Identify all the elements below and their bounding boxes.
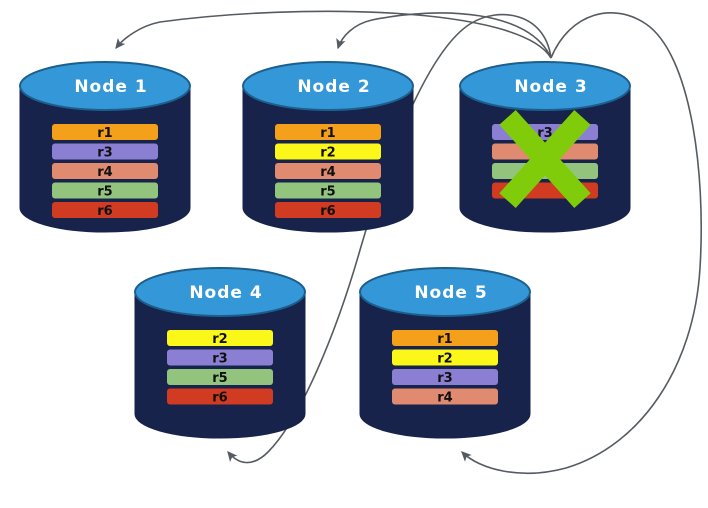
row-label: r1	[97, 126, 112, 141]
row-label: r5	[212, 371, 227, 386]
row-label: r6	[212, 390, 227, 405]
data-row[interactable]: r1	[275, 124, 381, 141]
row-label: r2	[437, 351, 452, 366]
node-title: Node 3	[514, 77, 587, 97]
node-title: Node 1	[74, 77, 147, 97]
data-row[interactable]: r4	[52, 163, 158, 180]
data-row[interactable]: r5	[167, 369, 273, 386]
edge-node3-to-node1	[116, 11, 551, 58]
data-row[interactable]: r2	[392, 350, 498, 367]
data-row[interactable]: r2	[275, 144, 381, 161]
data-row[interactable]: r6	[167, 389, 273, 406]
row-label: r1	[437, 332, 452, 347]
row-label: r1	[320, 126, 335, 141]
data-row[interactable]: r5	[52, 183, 158, 200]
data-row[interactable]: r6	[275, 202, 381, 219]
row-label: r4	[437, 390, 452, 405]
node-3[interactable]: Node 3r3	[460, 62, 630, 232]
data-row[interactable]: r4	[392, 389, 498, 406]
data-row[interactable]: r1	[52, 124, 158, 141]
diagram-canvas: Node 1r1r3r4r5r6Node 2r1r2r4r5r6Node 3r3…	[0, 0, 708, 508]
data-row[interactable]: r1	[392, 330, 498, 347]
row-label: r3	[437, 371, 452, 386]
node-5[interactable]: Node 5r1r2r3r4	[360, 268, 530, 438]
data-row[interactable]: r3	[167, 350, 273, 367]
row-label: r3	[97, 145, 112, 160]
data-row[interactable]: r3	[392, 369, 498, 386]
row-label: r3	[212, 351, 227, 366]
row-label: r5	[320, 184, 335, 199]
nodes-layer: Node 1r1r3r4r5r6Node 2r1r2r4r5r6Node 3r3…	[20, 62, 630, 438]
row-label: r4	[97, 165, 112, 180]
row-label: r5	[97, 184, 112, 199]
node-title: Node 5	[414, 283, 487, 303]
row-label: r6	[320, 204, 335, 219]
row-label: r6	[97, 204, 112, 219]
node-title: Node 4	[189, 283, 262, 303]
node-1[interactable]: Node 1r1r3r4r5r6	[20, 62, 190, 232]
data-row[interactable]: r5	[275, 183, 381, 200]
row-label: r2	[212, 332, 227, 347]
data-row[interactable]: r4	[275, 163, 381, 180]
node-2[interactable]: Node 2r1r2r4r5r6	[243, 62, 413, 232]
node-4[interactable]: Node 4r2r3r5r6	[135, 268, 305, 438]
data-row[interactable]: r2	[167, 330, 273, 347]
row-label: r4	[320, 165, 335, 180]
row-label: r2	[320, 145, 335, 160]
node-title: Node 2	[297, 77, 370, 97]
replication-diagram: Node 1r1r3r4r5r6Node 2r1r2r4r5r6Node 3r3…	[0, 0, 708, 508]
data-row[interactable]: r6	[52, 202, 158, 219]
data-row[interactable]: r3	[52, 144, 158, 161]
